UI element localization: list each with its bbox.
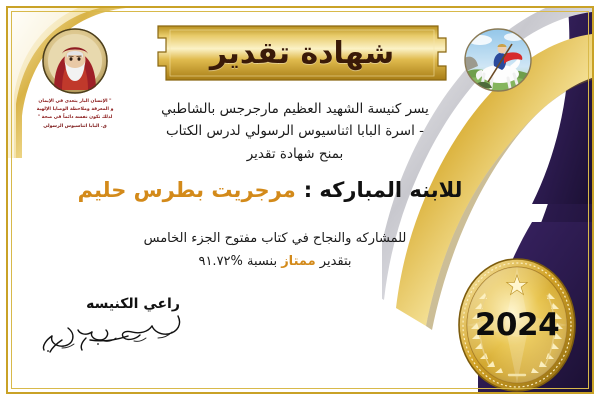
saint-george-horseback-icon (462, 26, 534, 94)
signature-block: راعي الكنيسه (28, 296, 238, 354)
certificate-title: شهادة تقدير (152, 22, 452, 84)
title-plaque: شهادة تقدير (152, 22, 452, 84)
recipient-name: مرجريت بطرس حليم (78, 178, 296, 202)
certificate-body-text: يسر كنيسة الشهيد العظيم مارجرجس بالشاطبي… (90, 98, 500, 165)
body-line-1: يسر كنيسة الشهيد العظيم مارجرجس بالشاطبي (90, 98, 500, 120)
percent-value: ٩١.٧٢% (198, 251, 242, 274)
grade-prefix: بتقدير (320, 254, 352, 269)
recipient-label: للابنه المباركه : (304, 178, 463, 202)
gold-medal-icon: 2024 (455, 255, 579, 395)
grade-value: ممتاز (281, 254, 315, 269)
achievement-line-2: بتقدير ممتاز بنسبة ٩١.٧٢% (70, 251, 480, 274)
achievement-line-1: للمشاركه والنجاح في كتاب مفتوح الجزء الخ… (70, 228, 480, 251)
medal-year-label: 2024 (455, 255, 579, 395)
percent-label: بنسبة (247, 254, 277, 269)
recipient-row: للابنه المباركه : مرجريت بطرس حليم (60, 178, 480, 202)
certificate-document: شهادة تقدير (0, 0, 600, 400)
saint-athanasius-portrait-icon (42, 28, 108, 94)
body-line-3: بمنح شهادة تقدير (90, 143, 500, 165)
body-line-2: - اسرة البابا اثناسيوس الرسولي لدرس الكت… (90, 120, 500, 142)
achievement-text: للمشاركه والنجاح في كتاب مفتوح الجزء الخ… (70, 228, 480, 274)
handwritten-signature-icon (28, 310, 238, 354)
